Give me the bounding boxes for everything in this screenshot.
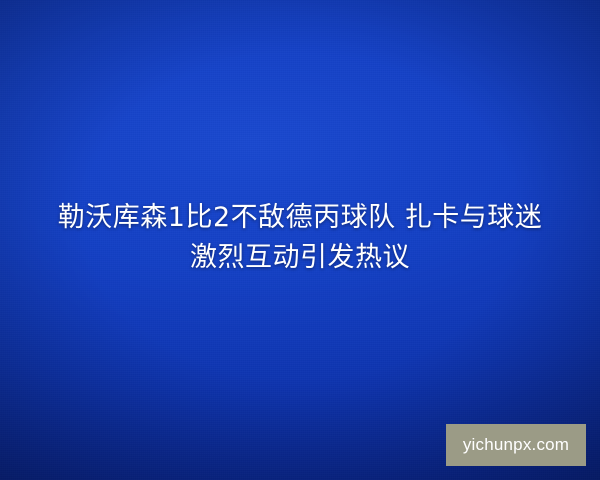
watermark-badge: yichunpx.com	[446, 424, 586, 466]
image-canvas: 勒沃库森1比2不敌德丙球队 扎卡与球迷 激烈互动引发热议 yichunpx.co…	[0, 0, 600, 480]
headline-text: 勒沃库森1比2不敌德丙球队 扎卡与球迷 激烈互动引发热议	[0, 198, 600, 278]
watermark-label: yichunpx.com	[463, 435, 569, 455]
